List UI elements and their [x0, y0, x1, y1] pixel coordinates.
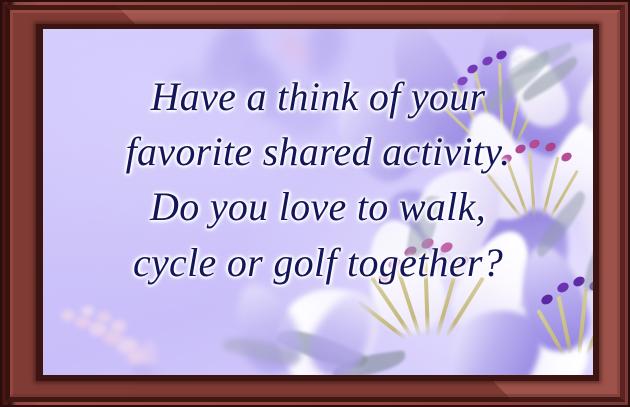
- quote-line-4: cycle or golf together?: [133, 235, 503, 290]
- quote-line-2: favorite shared activity.: [126, 124, 511, 179]
- quote-line-1: Have a think of your: [151, 69, 486, 124]
- quote-line-3: Do you love to walk,: [150, 179, 486, 234]
- floral-quote-picture: Have a think of your favorite shared act…: [43, 29, 593, 375]
- picture-frame-outer: Have a think of your favorite shared act…: [0, 0, 630, 407]
- quote-text-block: Have a think of your favorite shared act…: [43, 29, 593, 375]
